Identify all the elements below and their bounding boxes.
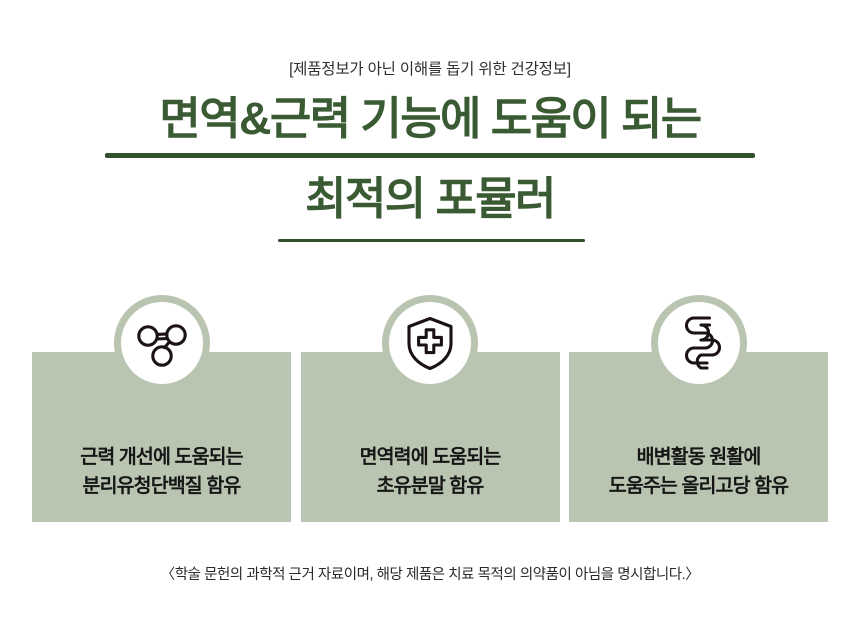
infographic-page: [제품정보가 아닌 이해를 돕기 위한 건강정보] 면역&근력 기능에 도움이 … [0,0,860,636]
molecule-icon [134,315,190,371]
headline-line-1: 면역&근력 기능에 도움이 되는 [0,96,860,148]
molecule-icon-circle [114,295,210,391]
benefit-card-muscle-text: 근력 개선에 도움되는 분리유청단백질 함유 [80,443,242,500]
kicker-text: [제품정보가 아닌 이해를 돕기 위한 건강정보] [0,57,860,79]
card-line-1: 면역력에 도움되는 [360,443,501,471]
benefit-cards: 근력 개선에 도움되는 분리유청단백질 함유 면역력에 도움되는 초유분말 함유 [32,352,828,522]
headline-block: 면역&근력 기능에 도움이 되는 최적의 포뮬러 [0,96,860,228]
card-line-1: 배변활동 원활에 [609,443,788,471]
card-line-2: 도움주는 올리고당 함유 [609,472,788,500]
card-line-2: 분리유청단백질 함유 [80,472,242,500]
benefit-card-digestion: 배변활동 원활에 도움주는 올리고당 함유 [569,352,828,522]
benefit-card-muscle: 근력 개선에 도움되는 분리유청단백질 함유 [32,352,291,522]
intestine-icon [674,314,724,372]
headline-underline-2 [278,239,585,242]
headline-line-2: 최적의 포뮬러 [0,176,860,228]
card-line-1: 근력 개선에 도움되는 [80,443,242,471]
headline-underline-1 [105,153,755,158]
shield-plus-icon-circle [382,295,478,391]
shield-plus-icon [404,315,456,371]
intestine-icon-circle [651,295,747,391]
benefit-card-digestion-text: 배변활동 원활에 도움주는 올리고당 함유 [609,443,788,500]
footnote-text: 〈학술 문헌의 과학적 근거 자료이며, 해당 제품은 치료 목적의 의약품이 … [0,563,860,584]
benefit-card-immunity-text: 면역력에 도움되는 초유분말 함유 [360,443,501,500]
card-line-2: 초유분말 함유 [360,472,501,500]
benefit-card-immunity: 면역력에 도움되는 초유분말 함유 [301,352,560,522]
